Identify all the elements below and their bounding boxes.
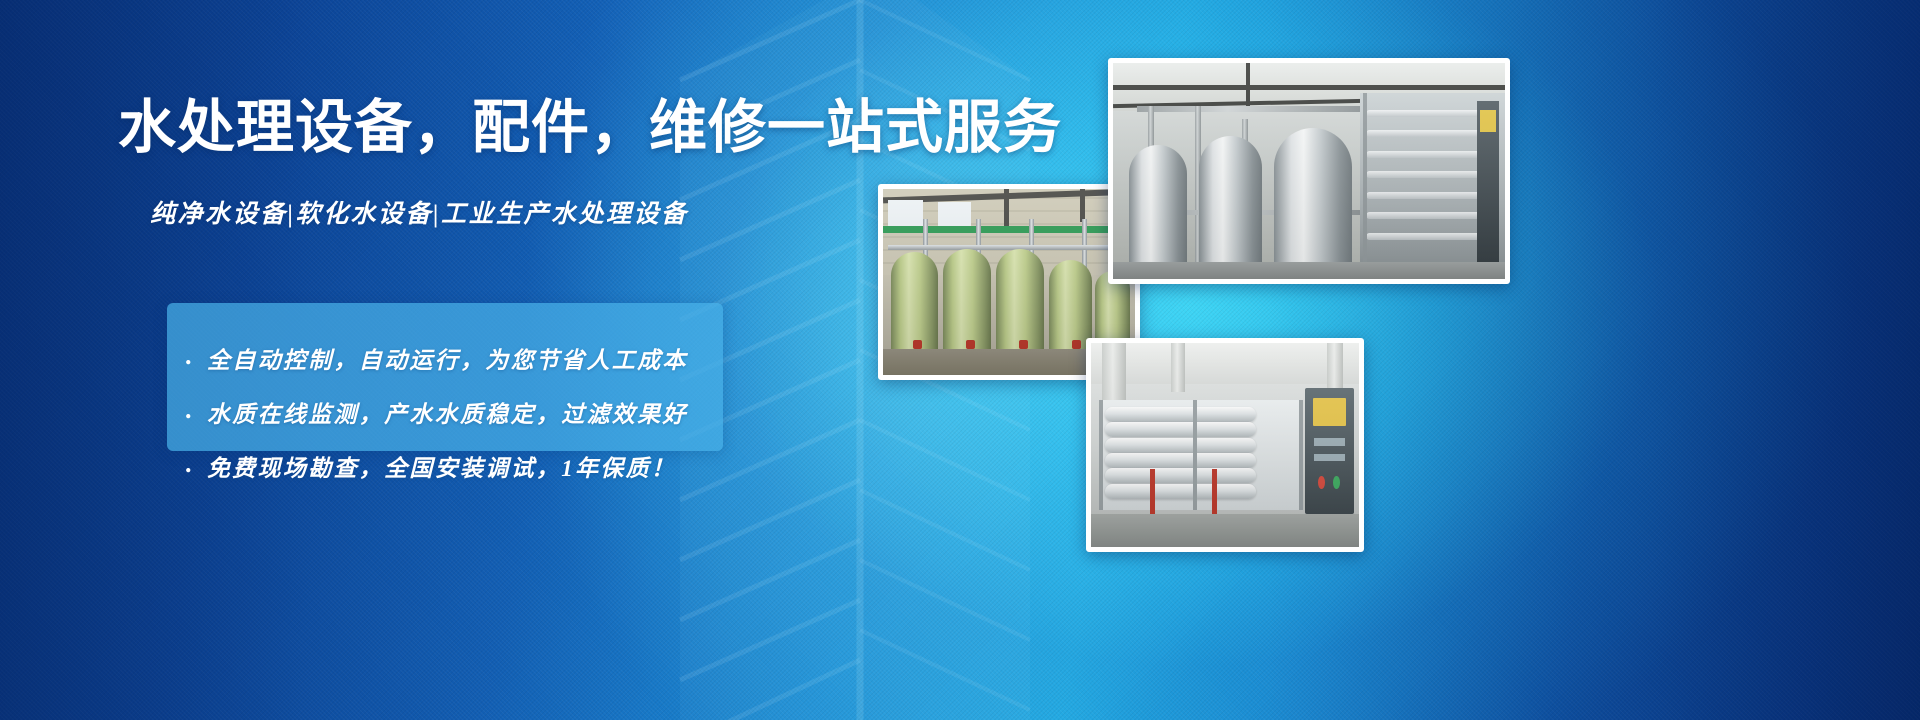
feature-item: . 免费现场勘查，全国安装调试，1年保质！ — [167, 439, 723, 493]
feature-text: 全自动控制，自动运行，为您节省人工成本 — [207, 341, 688, 375]
photo-ro-skid-bottom — [1086, 338, 1364, 552]
photo-ro-membrane-top — [1108, 58, 1510, 284]
promo-banner: 水处理设备，配件，维修一站式服务 纯净水设备|软化水设备|工业生产水处理设备 .… — [0, 0, 1920, 720]
bullet-dot-icon: . — [185, 459, 207, 469]
bullet-dot-icon: . — [185, 351, 207, 361]
feature-item: . 水质在线监测，产水水质稳定，过滤效果好 — [167, 385, 723, 439]
banner-headline: 水处理设备，配件，维修一站式服务 — [118, 96, 838, 161]
feature-item: . 全自动控制，自动运行，为您节省人工成本 — [167, 331, 723, 385]
feature-text: 水质在线监测，产水水质稳定，过滤效果好 — [207, 395, 688, 429]
feature-text: 免费现场勘查，全国安装调试，1年保质！ — [207, 449, 676, 483]
feature-list-box: . 全自动控制，自动运行，为您节省人工成本 . 水质在线监测，产水水质稳定，过滤… — [167, 303, 723, 451]
bullet-dot-icon: . — [185, 405, 207, 415]
banner-copy: 水处理设备，配件，维修一站式服务 纯净水设备|软化水设备|工业生产水处理设备 — [118, 96, 838, 230]
banner-subtitle: 纯净水设备|软化水设备|工业生产水处理设备 — [150, 194, 838, 230]
